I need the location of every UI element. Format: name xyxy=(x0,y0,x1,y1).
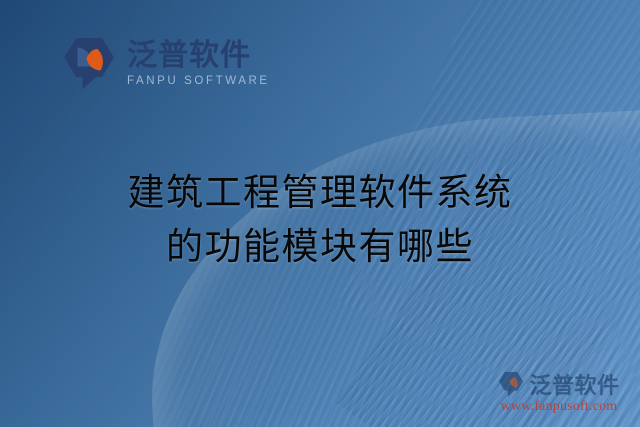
watermark: 泛普软件 www.fanpusoft.com xyxy=(484,368,634,415)
headline-line-1: 建筑工程管理软件系统 xyxy=(0,166,640,220)
watermark-url: www.fanpusoft.com xyxy=(484,399,634,415)
brand-logo-english-name: FANPU SOFTWARE xyxy=(127,75,270,88)
headline-line-2: 的功能模块有哪些 xyxy=(0,220,640,274)
promotional-banner: 泛普软件 FANPU SOFTWARE 建筑工程管理软件系统 的功能模块有哪些 … xyxy=(0,0,640,427)
watermark-chinese-name: 泛普软件 xyxy=(529,368,619,400)
watermark-logo-row: 泛普软件 xyxy=(484,368,634,400)
fanpu-hexagon-sail-logo-icon xyxy=(498,371,524,398)
brand-logo-wordmark: 泛普软件 FANPU SOFTWARE xyxy=(127,40,270,87)
brand-logo: 泛普软件 FANPU SOFTWARE xyxy=(62,36,270,92)
fanpu-hexagon-sail-logo-icon xyxy=(62,36,116,92)
headline: 建筑工程管理软件系统 的功能模块有哪些 xyxy=(0,166,640,274)
brand-logo-chinese-name: 泛普软件 xyxy=(127,40,270,72)
